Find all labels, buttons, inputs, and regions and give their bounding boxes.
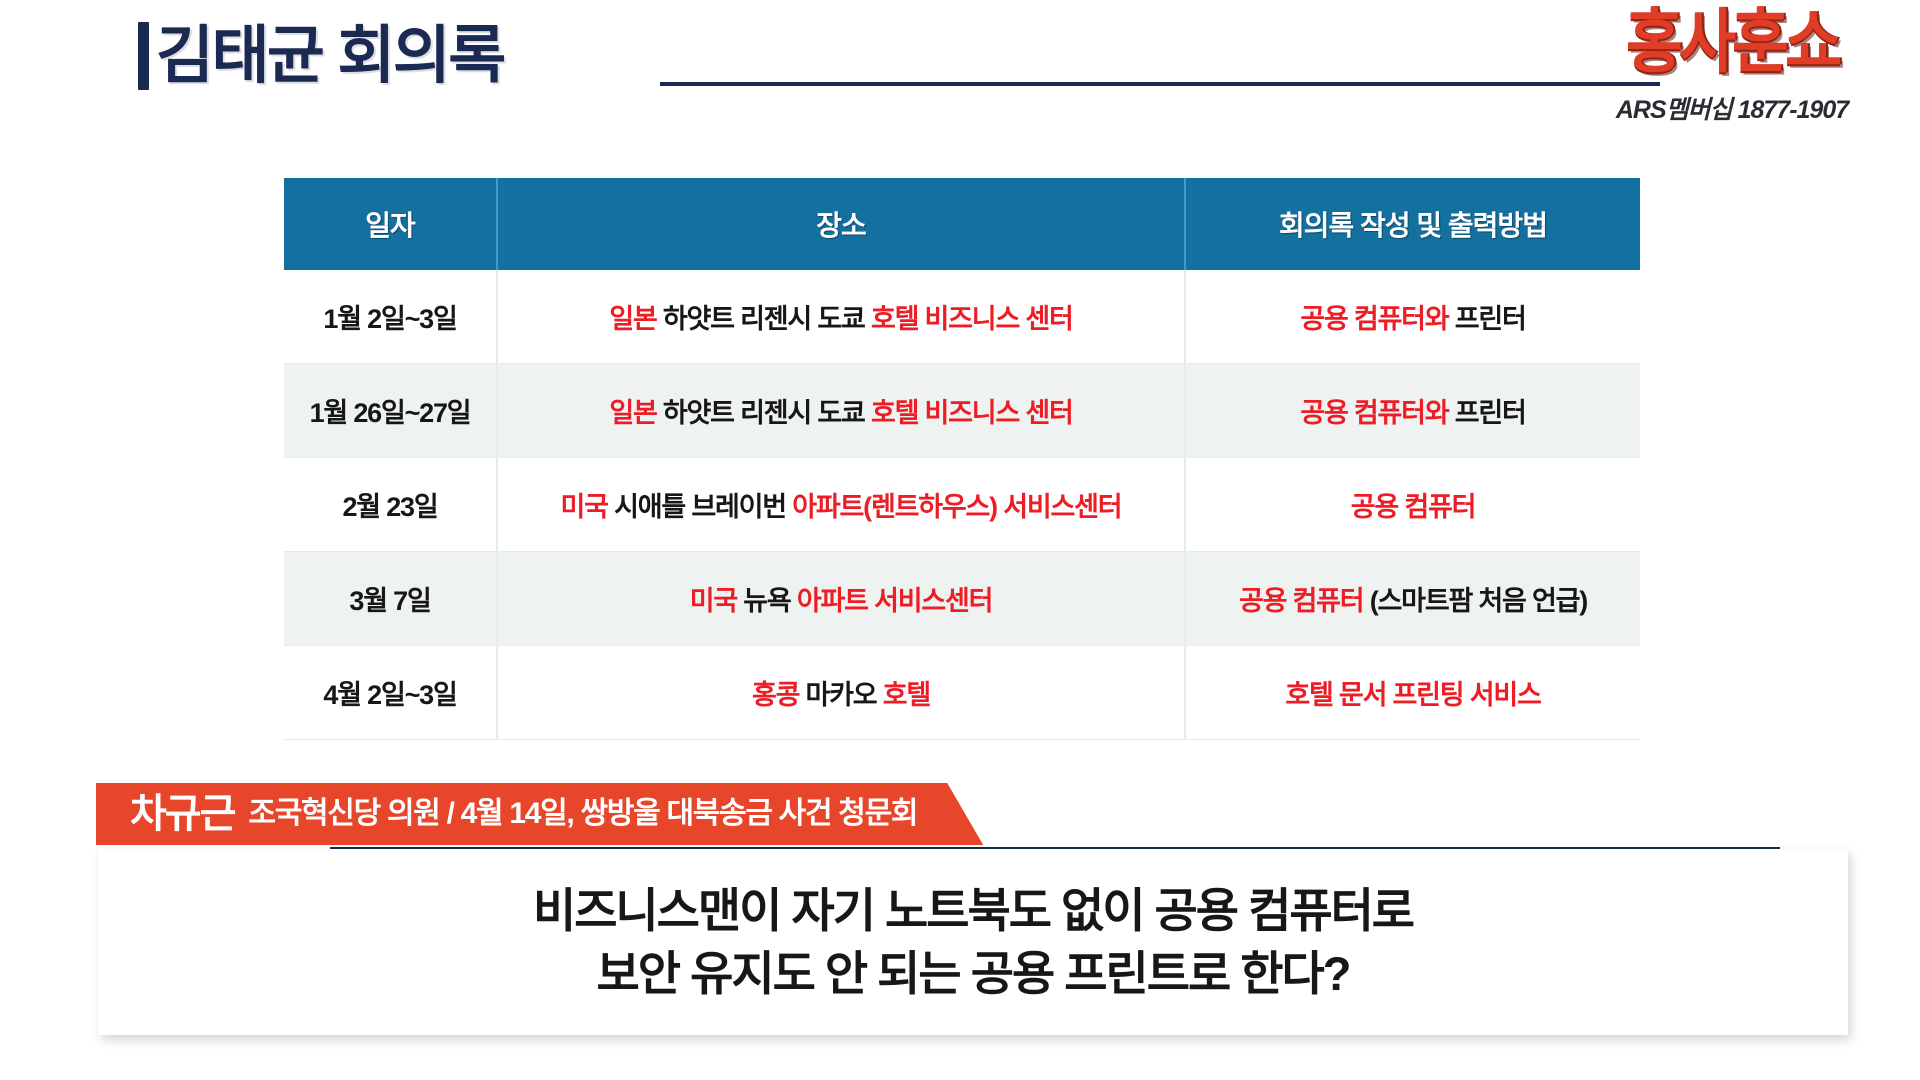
cell-place: 일본 하얏트 리젠시 도쿄 호텔 비즈니스 센터 bbox=[498, 270, 1186, 364]
text-segment: 시애틀 브레이번 bbox=[614, 492, 792, 522]
logo-title-text: 홍사훈쇼 bbox=[1592, 8, 1872, 77]
text-segment: 공용 컴퓨터 bbox=[1351, 492, 1476, 522]
table-body: 1월 2일~3일일본 하얏트 리젠시 도쿄 호텔 비즈니스 센터공용 컴퓨터와 … bbox=[284, 270, 1640, 740]
text-segment: 프린터 bbox=[1455, 398, 1526, 428]
text-segment: 일본 bbox=[609, 398, 663, 428]
speaker-description: 조국혁신당 의원 / 4월 14일, 쌍방울 대북송금 사건 청문회 bbox=[248, 799, 917, 829]
channel-logo: 홍사훈쇼 ARS멤버십 1877-1907 bbox=[1592, 12, 1872, 126]
text-segment: 호텔 비즈니스 센터 bbox=[871, 304, 1073, 334]
cell-date: 3월 7일 bbox=[284, 552, 498, 646]
speaker-name: 차규근 bbox=[130, 794, 234, 834]
table-row: 3월 7일미국 뉴욕 아파트 서비스센터공용 컴퓨터 (스마트팜 처음 언급) bbox=[284, 552, 1640, 646]
quote-line-2: 보안 유지도 안 되는 공용 프린트로 한다? bbox=[597, 942, 1350, 1005]
cell-note: 공용 컴퓨터와 프린터 bbox=[1186, 364, 1640, 458]
text-segment: 일본 bbox=[609, 304, 663, 334]
text-segment: 뉴욕 bbox=[743, 586, 797, 616]
table-row: 4월 2일~3일홍콩 마카오 호텔호텔 문서 프린팅 서비스 bbox=[284, 646, 1640, 740]
text-segment: 하얏트 리젠시 도쿄 bbox=[663, 304, 871, 334]
cell-place: 미국 시애틀 브레이번 아파트(렌트하우스) 서비스센터 bbox=[498, 458, 1186, 552]
text-segment: 호텔 bbox=[883, 680, 930, 710]
page-title: 김태균 회의록 bbox=[138, 22, 504, 90]
table-row: 2월 23일미국 시애틀 브레이번 아파트(렌트하우스) 서비스센터공용 컴퓨터 bbox=[284, 458, 1640, 552]
cell-note: 공용 컴퓨터와 프린터 bbox=[1186, 270, 1640, 364]
column-header-place: 장소 bbox=[498, 178, 1186, 270]
table-row: 1월 26일~27일일본 하얏트 리젠시 도쿄 호텔 비즈니스 센터공용 컴퓨터… bbox=[284, 364, 1640, 458]
text-segment: 마카오 bbox=[806, 680, 883, 710]
text-segment: 호텔 문서 프린팅 서비스 bbox=[1285, 680, 1540, 710]
column-header-note: 회의록 작성 및 출력방법 bbox=[1186, 178, 1640, 270]
text-segment: 공용 컴퓨터와 bbox=[1300, 304, 1454, 334]
text-segment: 아파트 서비스센터 bbox=[797, 586, 992, 616]
text-segment: 아파트(렌트하우스) 서비스센터 bbox=[792, 492, 1121, 522]
cell-note: 공용 컴퓨터 bbox=[1186, 458, 1640, 552]
cell-date: 1월 26일~27일 bbox=[284, 364, 498, 458]
title-underline-rule bbox=[660, 82, 1660, 86]
text-segment: 미국 bbox=[561, 492, 615, 522]
cell-place: 홍콩 마카오 호텔 bbox=[498, 646, 1186, 740]
text-segment: 호텔 비즈니스 센터 bbox=[871, 398, 1073, 428]
text-segment: 하얏트 리젠시 도쿄 bbox=[663, 398, 871, 428]
text-segment: 공용 컴퓨터 bbox=[1239, 586, 1370, 616]
table-row: 1월 2일~3일일본 하얏트 리젠시 도쿄 호텔 비즈니스 센터공용 컴퓨터와 … bbox=[284, 270, 1640, 364]
text-segment: 홍콩 bbox=[752, 680, 806, 710]
text-segment: (스마트팜 처음 언급) bbox=[1370, 586, 1587, 616]
cell-place: 미국 뉴욕 아파트 서비스센터 bbox=[498, 552, 1186, 646]
cell-date: 2월 23일 bbox=[284, 458, 498, 552]
column-header-date: 일자 bbox=[284, 178, 498, 270]
text-segment: 공용 컴퓨터와 bbox=[1300, 398, 1454, 428]
meeting-log-table: 일자 장소 회의록 작성 및 출력방법 1월 2일~3일일본 하얏트 리젠시 도… bbox=[284, 178, 1640, 740]
page-title-text: 김태균 회의록 bbox=[156, 25, 504, 88]
speaker-banner: 차규근 조국혁신당 의원 / 4월 14일, 쌍방울 대북송금 사건 청문회 bbox=[96, 783, 983, 845]
cell-note: 호텔 문서 프린팅 서비스 bbox=[1186, 646, 1640, 740]
quote-card: 비즈니스맨이 자기 노트북도 없이 공용 컴퓨터로 보안 유지도 안 되는 공용… bbox=[98, 849, 1848, 1035]
text-segment: 미국 bbox=[690, 586, 744, 616]
cell-note: 공용 컴퓨터 (스마트팜 처음 언급) bbox=[1186, 552, 1640, 646]
text-segment: 프린터 bbox=[1455, 304, 1526, 334]
title-accent-bar bbox=[138, 22, 149, 90]
cell-date: 4월 2일~3일 bbox=[284, 646, 498, 740]
table-header-row: 일자 장소 회의록 작성 및 출력방법 bbox=[284, 178, 1640, 270]
cell-place: 일본 하얏트 리젠시 도쿄 호텔 비즈니스 센터 bbox=[498, 364, 1186, 458]
quote-line-1: 비즈니스맨이 자기 노트북도 없이 공용 컴퓨터로 bbox=[533, 879, 1413, 942]
cell-date: 1월 2일~3일 bbox=[284, 270, 498, 364]
page-header: 김태균 회의록 홍사훈쇼 ARS멤버십 1877-1907 bbox=[0, 0, 1920, 160]
logo-membership-text: ARS멤버십 1877-1907 bbox=[1592, 90, 1872, 126]
